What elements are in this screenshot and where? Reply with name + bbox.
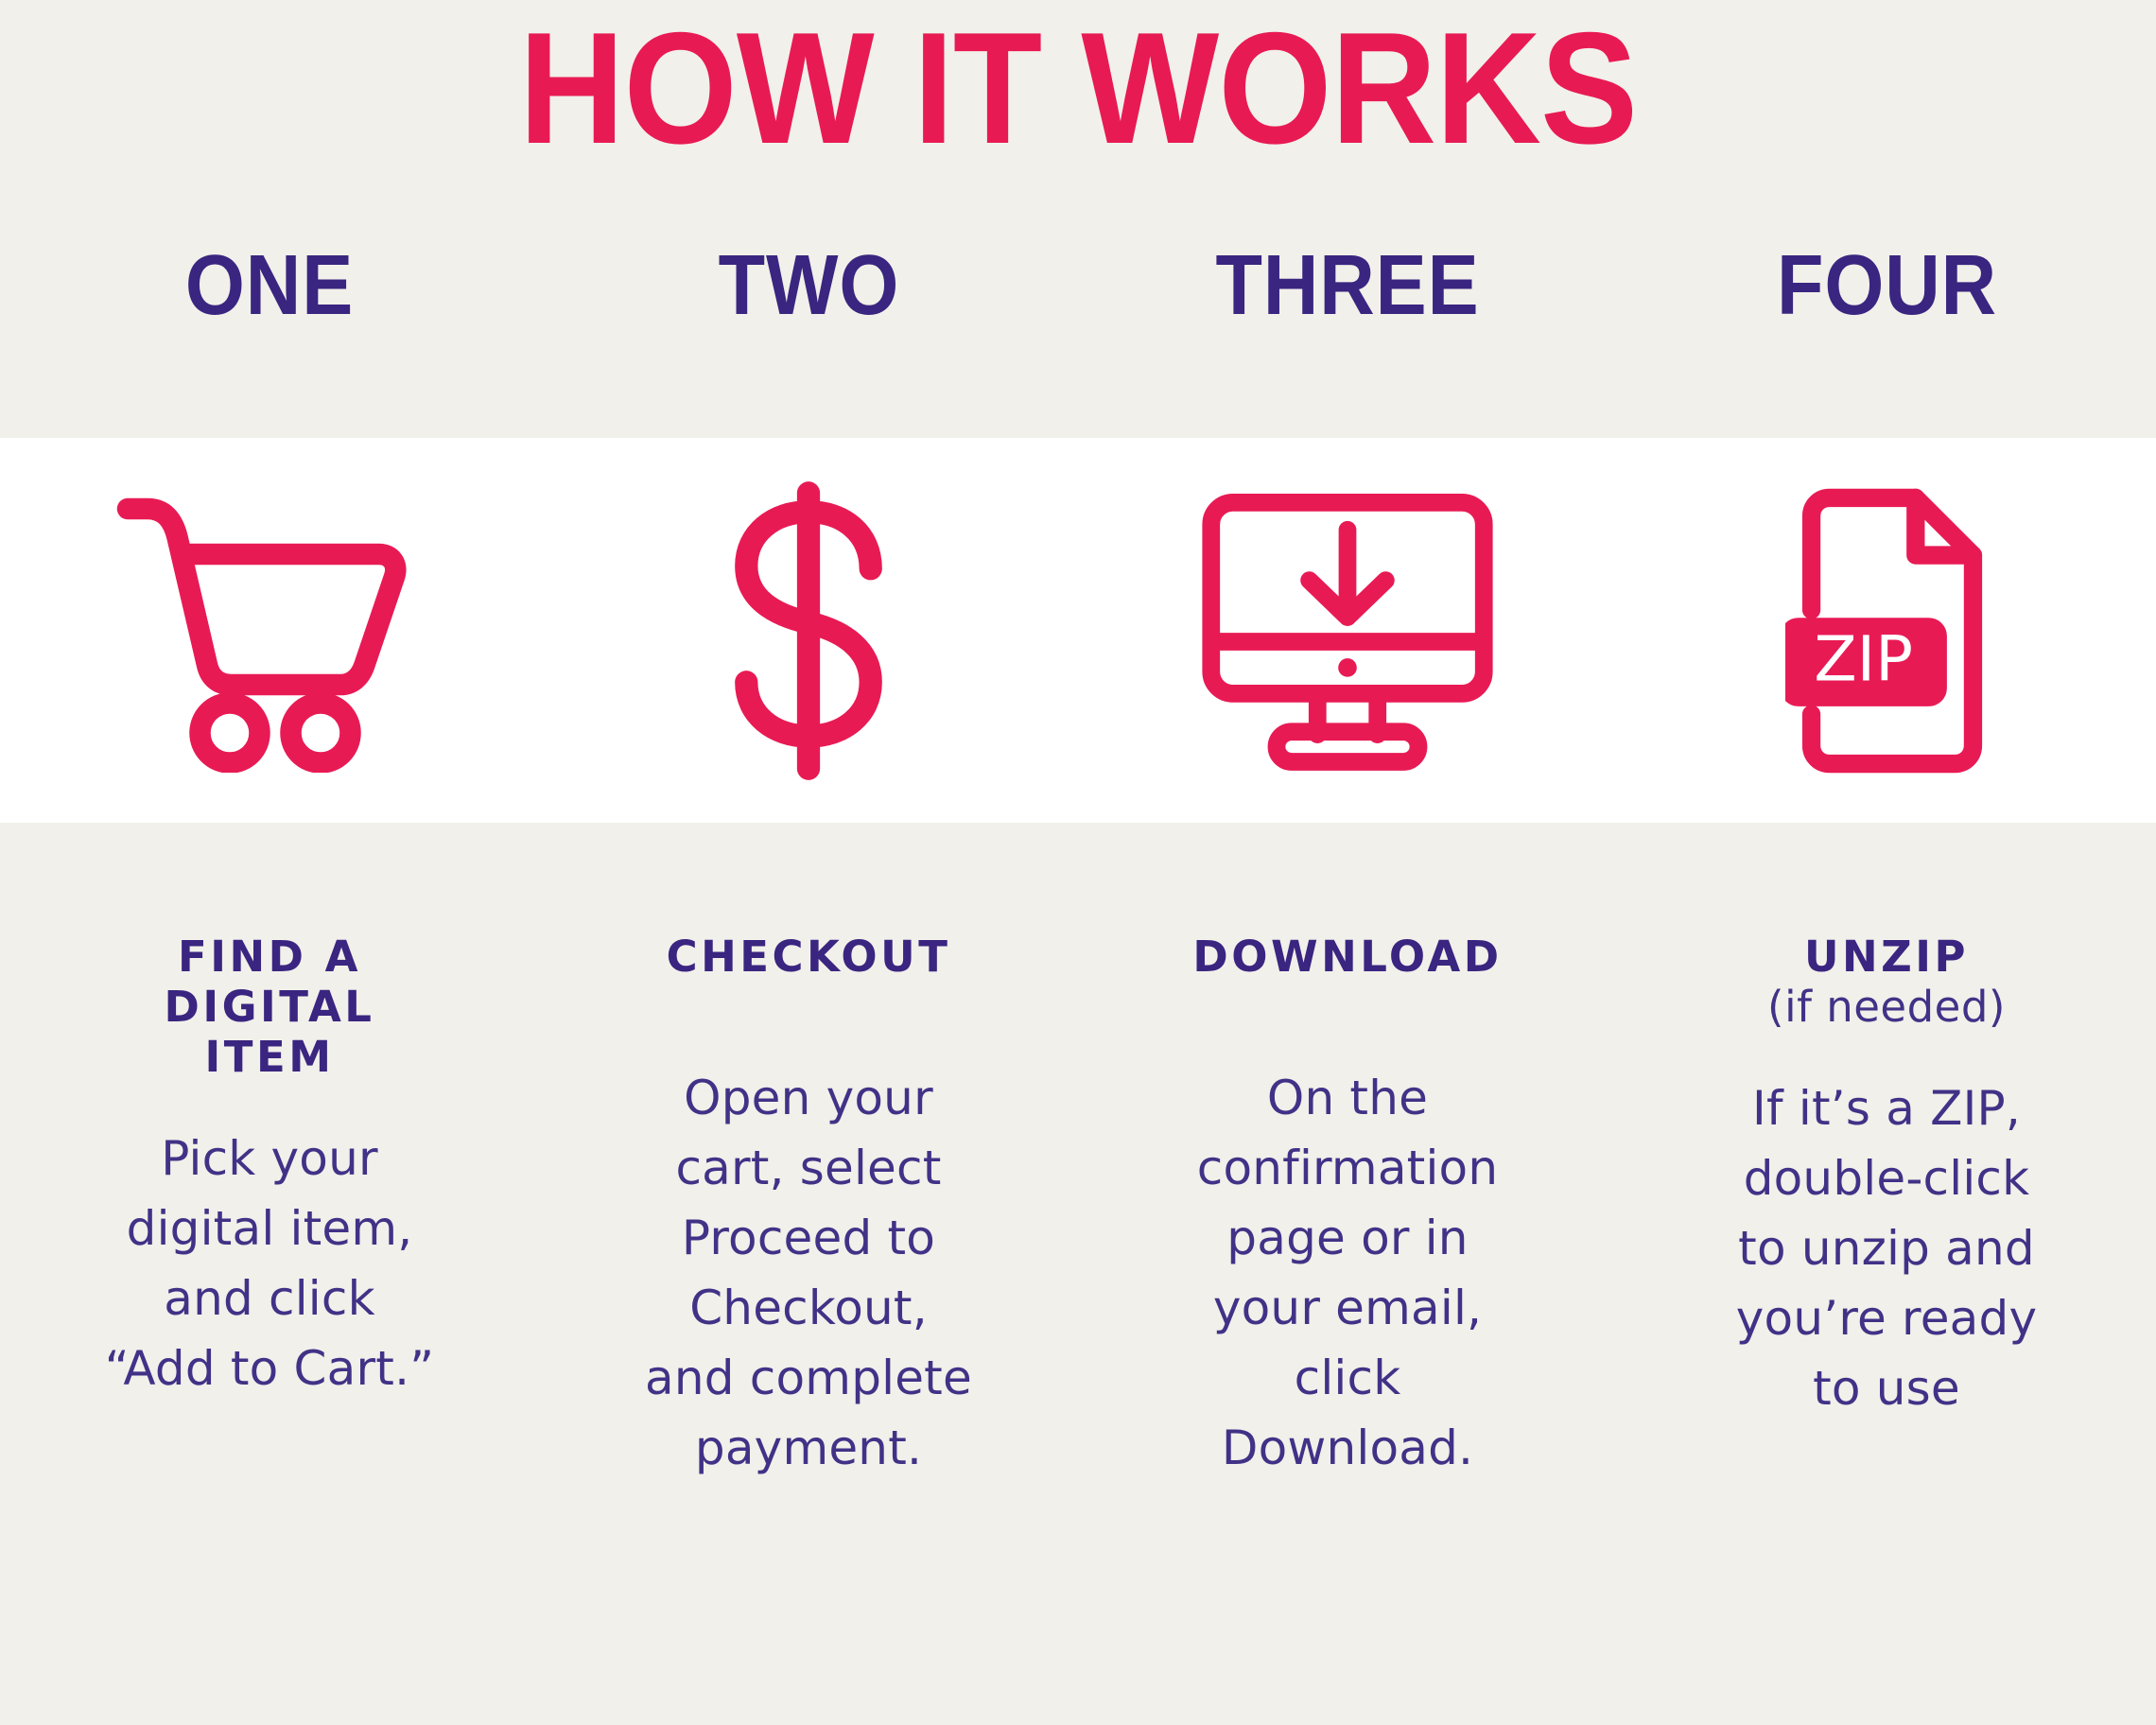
step-heading-one: FIND A DIGITAL ITEM xyxy=(34,932,505,1082)
step-subheading-four: (if needed) xyxy=(1651,982,2122,1032)
monitor-download-icon xyxy=(1196,489,1499,773)
dollar-sign-icon xyxy=(714,479,903,782)
step-number-one: ONE xyxy=(185,243,354,328)
step-column-four: UNZIP (if needed) If it’s a ZIP, double-… xyxy=(1617,932,2156,1483)
step-column-two: CHECKOUT Open your cart, select Proceed … xyxy=(539,932,1078,1483)
step-body-four: If it’s a ZIP, double-click to unzip and… xyxy=(1651,1073,2122,1423)
icon-cell-two xyxy=(539,438,1078,823)
step-column-one: FIND A DIGITAL ITEM Pick your digital it… xyxy=(0,932,539,1483)
step-numbers-row: ONE TWO THREE FOUR xyxy=(0,243,2156,328)
page-title: HOW IT WORKS xyxy=(86,8,2070,169)
icon-cell-one xyxy=(0,438,539,823)
step-number-cell-three: THREE xyxy=(1078,243,1617,328)
step-column-three: DOWNLOAD On the confirmation page or in … xyxy=(1078,932,1617,1483)
step-body-three: On the confirmation page or in your emai… xyxy=(1112,1063,1583,1483)
step-number-four: FOUR xyxy=(1776,243,1996,328)
zip-badge-label: ZIP xyxy=(1814,622,1913,695)
shopping-cart-icon xyxy=(113,489,426,773)
step-number-two: TWO xyxy=(718,243,899,328)
spacer xyxy=(573,982,1044,1063)
step-number-cell-four: FOUR xyxy=(1617,243,2156,328)
spacer xyxy=(1651,1032,2122,1073)
step-heading-two: CHECKOUT xyxy=(573,932,1044,982)
step-number-three: THREE xyxy=(1215,243,1479,328)
step-number-cell-one: ONE xyxy=(0,243,539,328)
icon-band: ZIP xyxy=(0,438,2156,823)
spacer xyxy=(34,1082,505,1124)
zip-file-icon: ZIP xyxy=(1785,484,1989,777)
spacer xyxy=(1112,982,1583,1063)
icon-cell-four: ZIP xyxy=(1617,438,2156,823)
header: HOW IT WORKS xyxy=(0,0,2156,169)
step-heading-four: UNZIP xyxy=(1651,932,2122,982)
step-body-two: Open your cart, select Proceed to Checko… xyxy=(573,1063,1044,1483)
step-body-one: Pick your digital item, and click “Add t… xyxy=(34,1124,505,1403)
steps-text-row: FIND A DIGITAL ITEM Pick your digital it… xyxy=(0,932,2156,1483)
step-number-cell-two: TWO xyxy=(539,243,1078,328)
step-heading-three: DOWNLOAD xyxy=(1112,932,1583,982)
icon-cell-three xyxy=(1078,438,1617,823)
